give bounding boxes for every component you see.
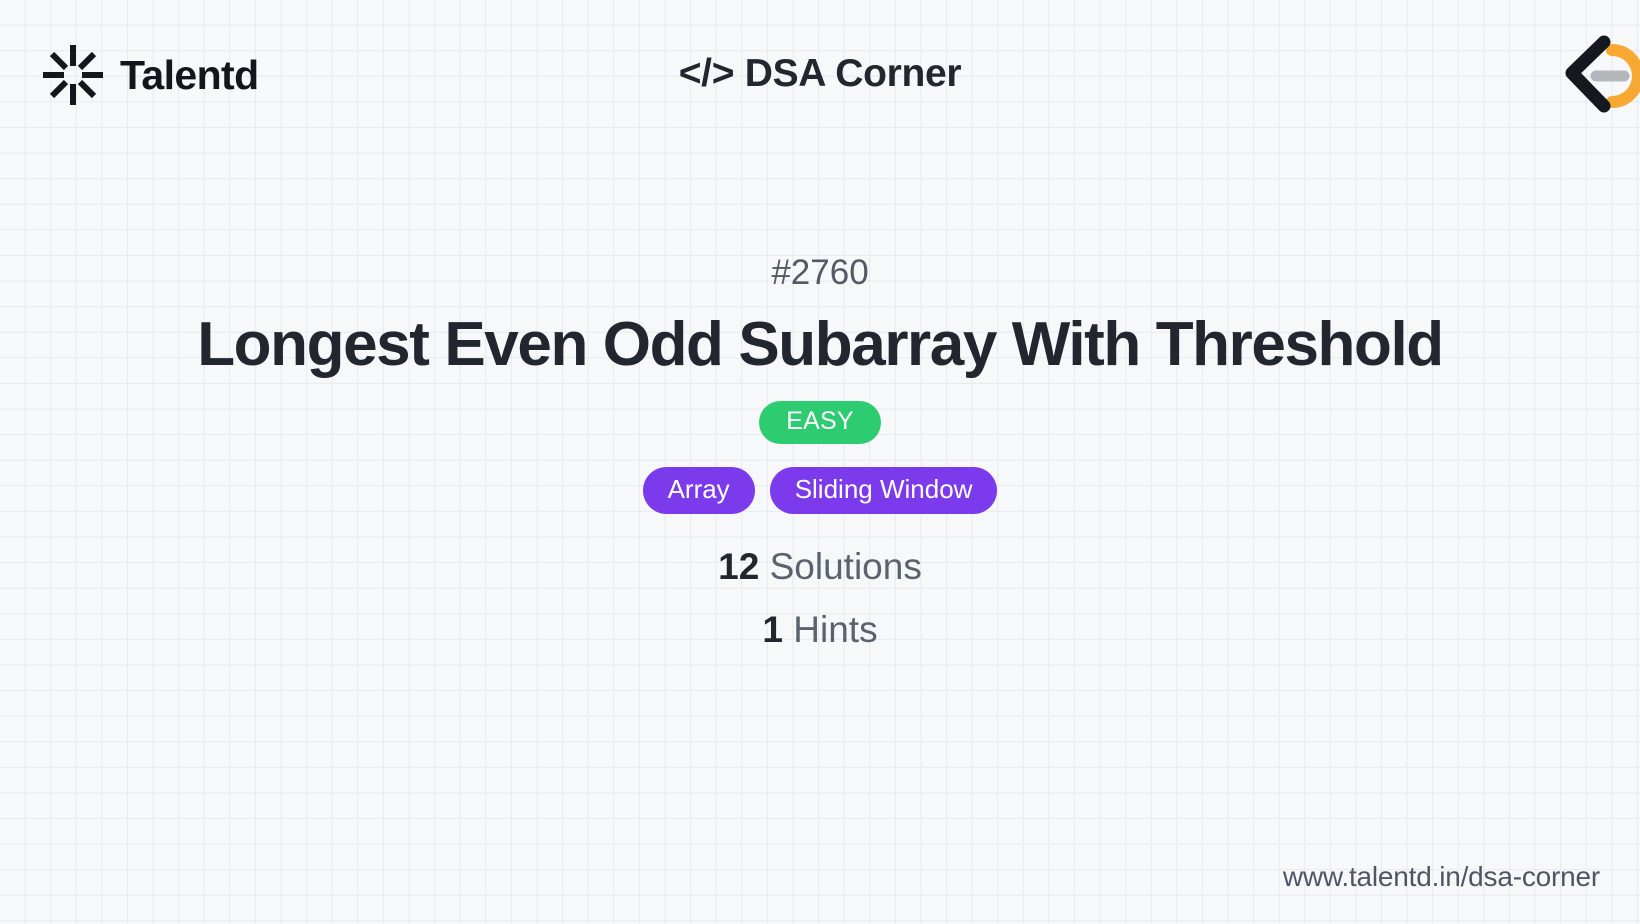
problem-share-card: Talentd </> DSA Corner #2760 Longest Eve…: [0, 0, 1640, 924]
stat-solutions: 12 Solutions: [0, 548, 1640, 585]
stat-hints-value: 1: [762, 609, 783, 650]
stat-hints-label: Hints: [793, 609, 877, 650]
tags-row: Array Sliding Window: [0, 467, 1640, 514]
difficulty-row: EASY: [0, 401, 1640, 444]
tag-sliding-window[interactable]: Sliding Window: [770, 467, 998, 514]
header: Talentd </> DSA Corner: [0, 0, 1640, 155]
problem-number: #2760: [0, 255, 1640, 290]
footer-url[interactable]: www.talentd.in/dsa-corner: [1283, 861, 1600, 893]
stat-hints-label-space: [783, 609, 793, 650]
difficulty-badge: EASY: [759, 401, 881, 444]
chevron-bracket-logo-icon: [1538, 26, 1640, 126]
stat-solutions-value: 12: [718, 546, 759, 587]
stat-solutions-label-space: [759, 546, 769, 587]
problem-title: Longest Even Odd Subarray With Threshold: [0, 312, 1640, 379]
stat-hints: 1 Hints: [0, 611, 1640, 648]
stat-solutions-label: Solutions: [770, 546, 922, 587]
problem-summary: #2760 Longest Even Odd Subarray With Thr…: [0, 255, 1640, 674]
page-title: </> DSA Corner: [0, 52, 1640, 96]
tag-array[interactable]: Array: [643, 467, 755, 514]
